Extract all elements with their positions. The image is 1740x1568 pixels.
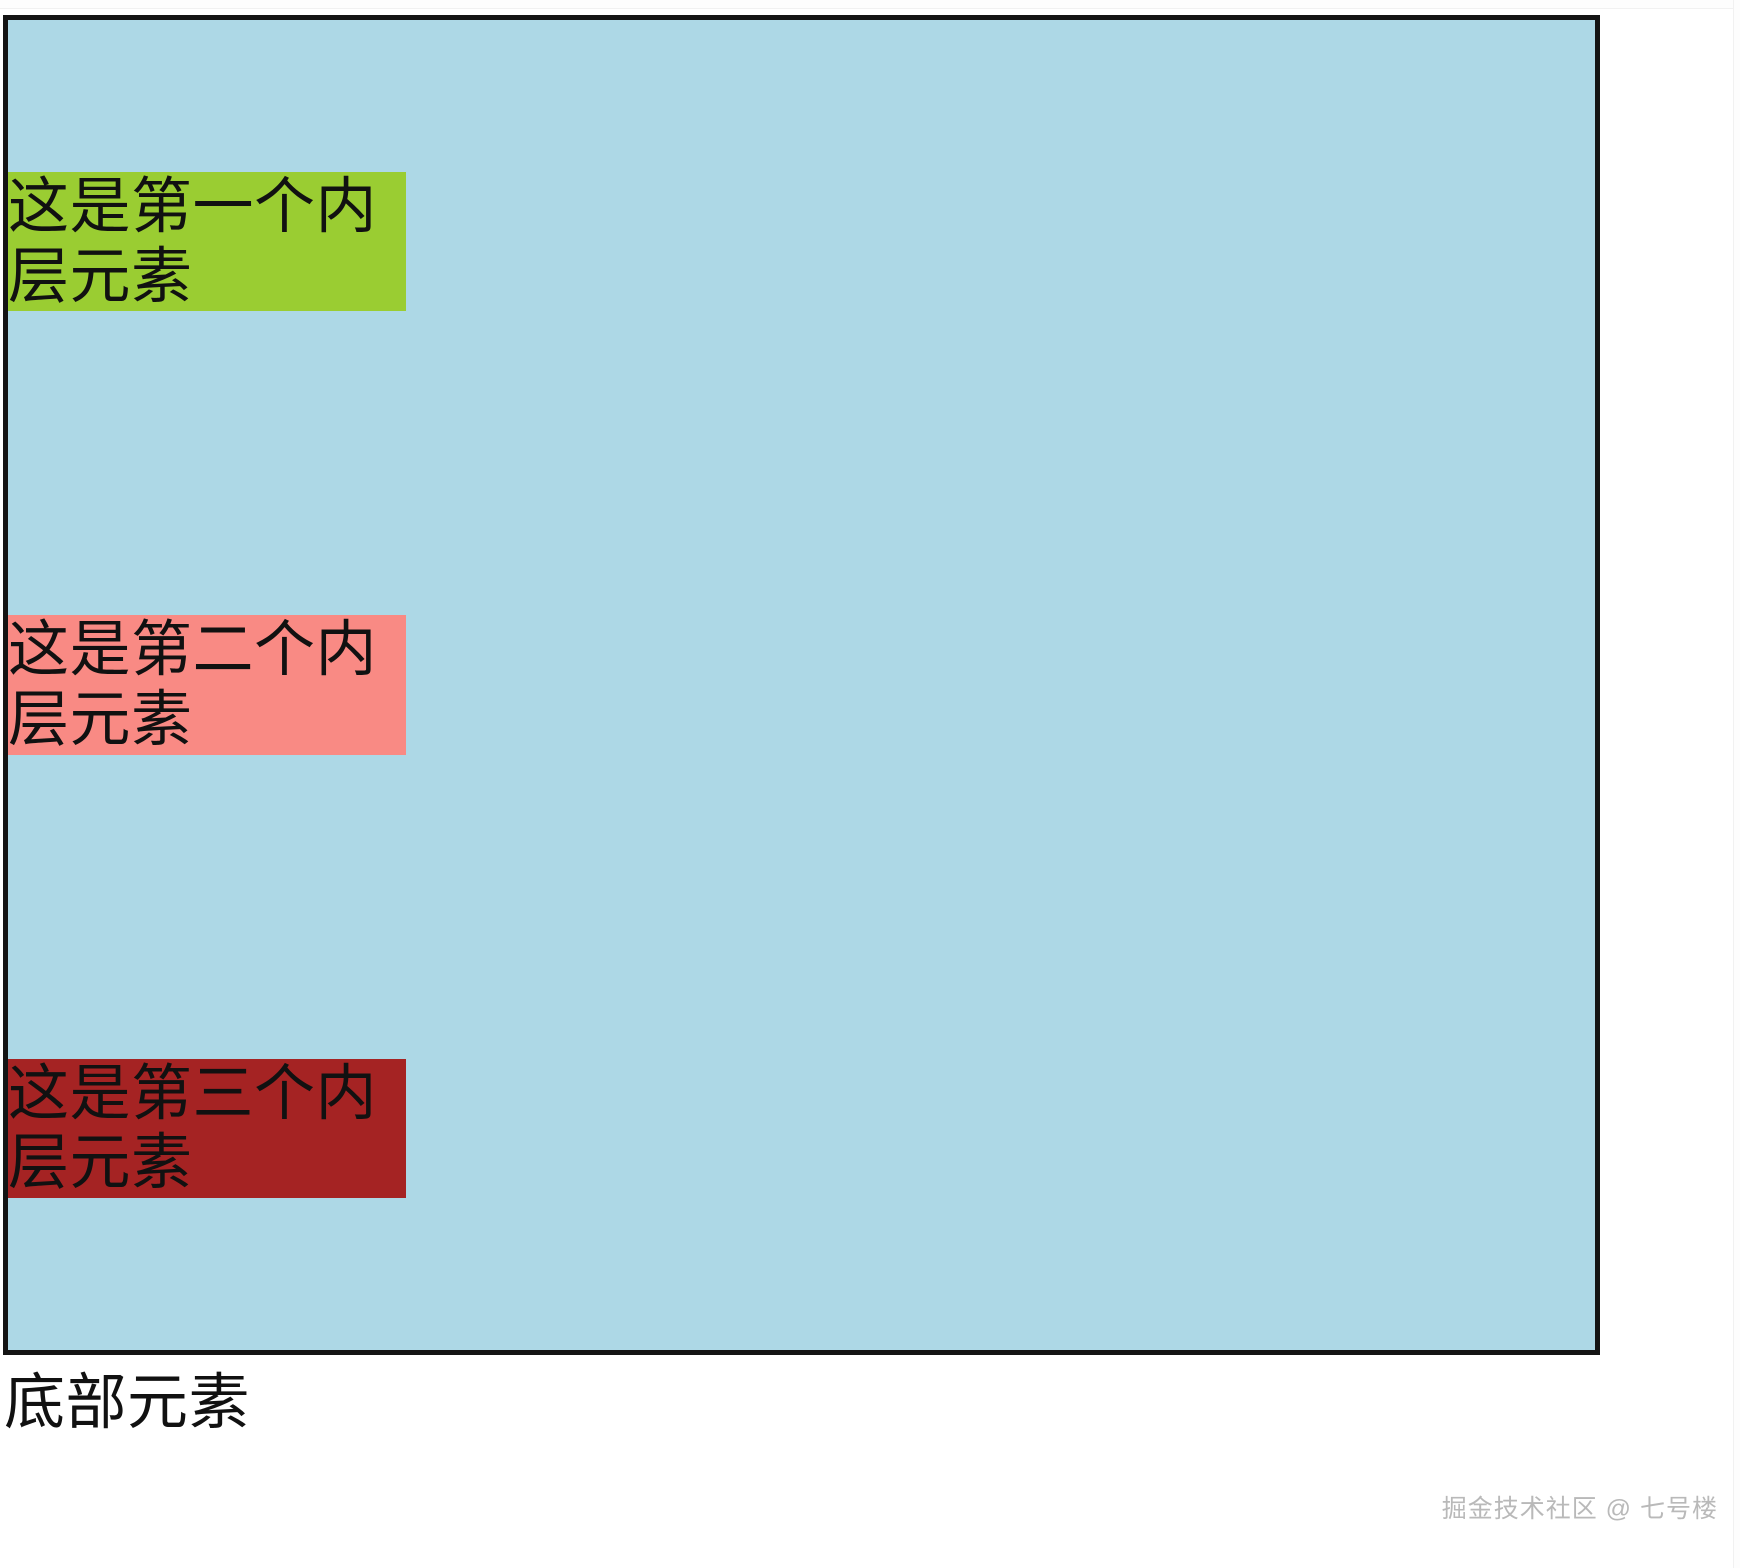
bottom-element-text: 底部元素 xyxy=(4,1368,250,1438)
inner-box-2: 这是第二个内层元素 xyxy=(8,615,406,754)
watermark: 掘金技术社区 @ 七号楼 xyxy=(1442,1489,1718,1525)
inner-box-3: 这是第三个内层元素 xyxy=(8,1059,406,1198)
page-right-hairline xyxy=(1733,0,1740,1568)
page-top-hairline xyxy=(0,0,1740,9)
inner-box-1: 这是第一个内层元素 xyxy=(8,172,406,311)
outer-flex-container: 这是第一个内层元素 这是第二个内层元素 这是第三个内层元素 xyxy=(3,15,1600,1355)
